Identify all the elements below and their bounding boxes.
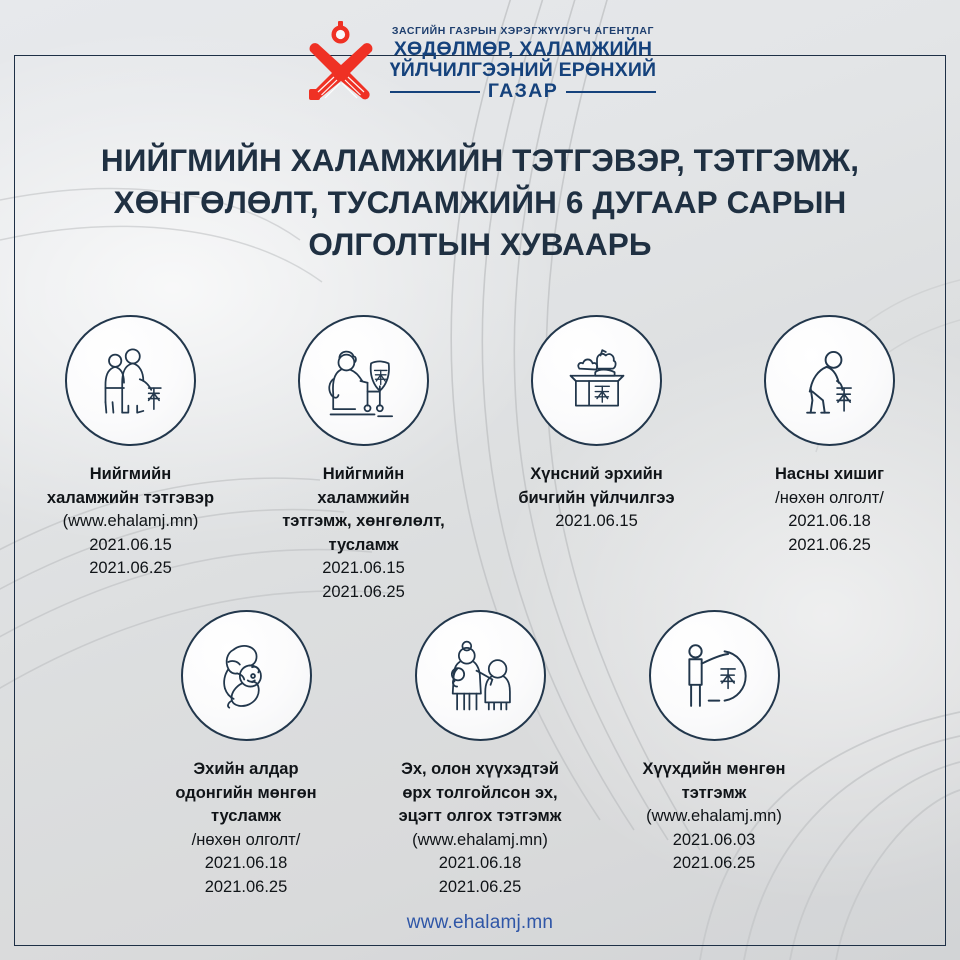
benefit-item-allowance-discount-aid[interactable]: Нийгмийн халамжийн тэтгэмж, хөнгөлөлт, т…: [253, 315, 474, 605]
benefit-caption: Хүүхдийн мөнгөн тэтгэмж (www.ehalamj.mn)…: [642, 758, 785, 876]
brand-agency-line: ЗАСГИЙН ГАЗРЫН ХЭРЭГЖҮҮЛЭГЧ АГЕНТЛАГ: [392, 26, 654, 37]
caption-line: тусламж: [282, 534, 445, 558]
caption-line: /нөхөн олголт/: [175, 829, 316, 853]
caption-line: Нийгмийн: [282, 463, 445, 487]
caption-line: Эхийн алдар: [175, 758, 316, 782]
caption-line: эцэгт олгох тэтгэмж: [399, 805, 562, 829]
caption-line: тусламж: [175, 805, 316, 829]
benefit-caption: Нийгмийн халамжийн тэтгэмж, хөнгөлөлт, т…: [282, 463, 445, 605]
page-title-line-2: ХӨНГӨЛӨЛТ, ТУСЛАМЖИЙН 6 ДУГААР САРЫН: [58, 182, 902, 224]
infographic-poster: ЗАСГИЙН ГАЗРЫН ХЭРЭГЖҮҮЛЭГЧ АГЕНТЛАГ ХӨД…: [0, 0, 960, 960]
caption-line: халамжийн: [282, 487, 445, 511]
caption-line: Насны хишиг: [775, 463, 884, 487]
caption-line: (www.ehalamj.mn): [399, 829, 562, 853]
caption-line: одонгийн мөнгөн: [175, 782, 316, 806]
caption-line: (www.ehalamj.mn): [642, 805, 785, 829]
brand-text-block: ЗАСГИЙН ГАЗРЫН ХЭРЭГЖҮҮЛЭГЧ АГЕНТЛАГ ХӨД…: [390, 26, 657, 102]
caption-line: 2021.06.18: [775, 510, 884, 534]
mother-baby-icon: [181, 610, 312, 741]
caption-line: бичгийн үйлчилгээ: [518, 487, 674, 511]
page-title-line-3: ОЛГОЛТЫН ХУВААРЬ: [58, 224, 902, 266]
footer: www.ehalamj.mn: [0, 912, 960, 934]
brand-rule-left: [390, 91, 480, 93]
benefit-caption: Нийгмийн халамжийн тэтгэвэр (www.ehalamj…: [47, 463, 214, 581]
brand-name-line-1: ХӨДӨЛМӨР, ХАЛАМЖИЙН: [394, 39, 652, 60]
caption-line: Хүүхдийн мөнгөн: [642, 758, 785, 782]
caption-line: 2021.06.25: [175, 876, 316, 900]
benefit-item-child-money[interactable]: Хүүхдийн мөнгөн тэтгэмж (www.ehalamj.mn)…: [603, 610, 825, 876]
elderly-person-cane-icon: [764, 315, 895, 446]
caption-line: 2021.06.25: [775, 534, 884, 558]
caption-line: 2021.06.15: [282, 557, 445, 581]
page-title: НИЙГМИЙН ХАЛАМЖИЙН ТЭТГЭВЭР, ТЭТГЭМЖ, ХӨ…: [58, 140, 902, 266]
walker-shield-benefit-icon: [298, 315, 429, 446]
caption-line: Хүнсний эрхийн: [518, 463, 674, 487]
footer-website-link[interactable]: www.ehalamj.mn: [407, 912, 553, 933]
benefit-item-mother-glory-order[interactable]: Эхийн алдар одонгийн мөнгөн тусламж /нөх…: [135, 610, 357, 900]
benefit-item-single-parent-allowance[interactable]: Эх, олон хүүхэдтэй өрх толгойлсон эх, эц…: [369, 610, 591, 900]
benefit-row-2: Эхийн алдар одонгийн мөнгөн тусламж /нөх…: [130, 610, 830, 900]
elderly-couple-payment-icon: [65, 315, 196, 446]
caption-line: 2021.06.18: [399, 852, 562, 876]
mother-with-children-icon: [415, 610, 546, 741]
benefit-caption: Эхийн алдар одонгийн мөнгөн тусламж /нөх…: [175, 758, 316, 900]
caption-line: /нөхөн олголт/: [775, 487, 884, 511]
caption-line: тэтгэмж: [642, 782, 785, 806]
brand-rule-right: [566, 91, 656, 93]
benefit-row-1: Нийгмийн халамжийн тэтгэвэр (www.ehalamj…: [20, 315, 940, 605]
caption-line: 2021.06.18: [175, 852, 316, 876]
caption-line: 2021.06.25: [399, 876, 562, 900]
brand-name-line-3: ГАЗАР: [488, 81, 558, 102]
brand-header: ЗАСГИЙН ГАЗРЫН ХЭРЭГЖҮҮЛЭГЧ АГЕНТЛАГ ХӨД…: [0, 14, 960, 114]
caption-line: 2021.06.03: [642, 829, 785, 853]
caption-line: 2021.06.25: [47, 557, 214, 581]
child-money-icon: [649, 610, 780, 741]
caption-line: Эх, олон хүүхэдтэй: [399, 758, 562, 782]
caption-line: Нийгмийн: [47, 463, 214, 487]
caption-line: халамжийн тэтгэвэр: [47, 487, 214, 511]
benefit-caption: Хүнсний эрхийн бичгийн үйлчилгээ 2021.06…: [518, 463, 674, 534]
page-title-line-1: НИЙГМИЙН ХАЛАМЖИЙН ТЭТГЭВЭР, ТЭТГЭМЖ,: [58, 140, 902, 182]
agency-logo-icon: [304, 21, 378, 107]
brand-name-line-3-row: ГАЗАР: [390, 81, 657, 102]
benefit-item-age-bonus[interactable]: Насны хишиг /нөхөн олголт/ 2021.06.18 20…: [719, 315, 940, 557]
caption-line: (www.ehalamj.mn): [47, 510, 214, 534]
benefit-item-social-pension[interactable]: Нийгмийн халамжийн тэтгэвэр (www.ehalamj…: [20, 315, 241, 581]
benefit-caption: Эх, олон хүүхэдтэй өрх толгойлсон эх, эц…: [399, 758, 562, 900]
caption-line: 2021.06.15: [47, 534, 214, 558]
caption-line: өрх толгойлсон эх,: [399, 782, 562, 806]
caption-line: тэтгэмж, хөнгөлөлт,: [282, 510, 445, 534]
caption-line: 2021.06.15: [518, 510, 674, 534]
benefit-item-food-stamp[interactable]: Хүнсний эрхийн бичгийн үйлчилгээ 2021.06…: [486, 315, 707, 534]
caption-line: 2021.06.25: [642, 852, 785, 876]
food-box-icon: [531, 315, 662, 446]
caption-line: 2021.06.25: [282, 581, 445, 605]
brand-name-line-2: ҮЙЛЧИЛГЭЭНИЙ ЕРӨНХИЙ: [390, 60, 657, 81]
benefit-caption: Насны хишиг /нөхөн олголт/ 2021.06.18 20…: [775, 463, 884, 557]
